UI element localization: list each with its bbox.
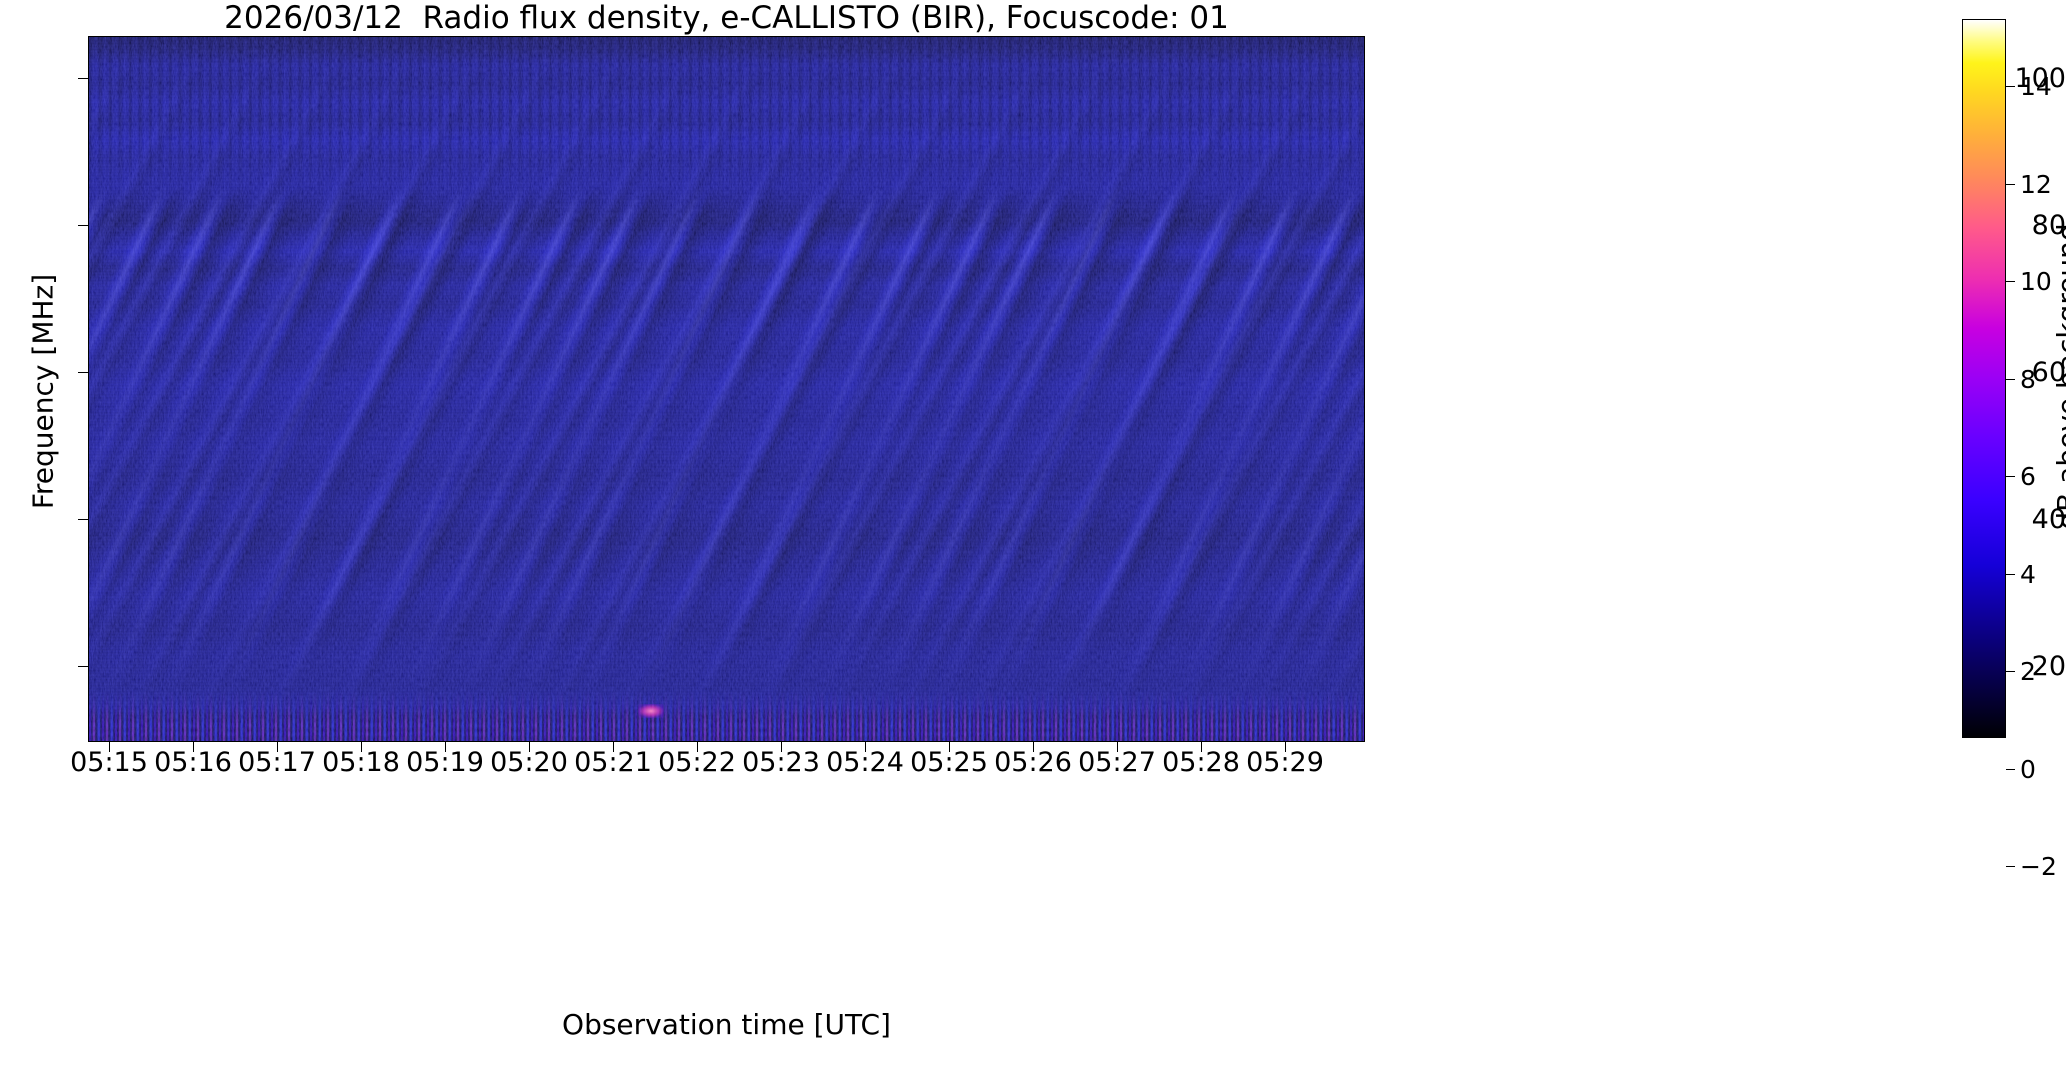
colorbar-tick-mark-10 (2006, 281, 2015, 282)
ytick-mark-40 (78, 519, 88, 520)
colorbar-tick-label-minus2: −2 (2020, 854, 2066, 879)
page-title: 2026/03/12 Radio flux density, e-CALLIST… (88, 1, 1365, 35)
ytick-mark-80 (78, 225, 88, 226)
xtick-label-14: 05:29 (1215, 748, 1355, 778)
colorbar-tick-label-0: 0 (2020, 757, 2066, 782)
colorbar-tick-mark-12 (2006, 184, 2015, 185)
colorbar-tick-mark-minus2 (2006, 866, 2015, 867)
ytick-mark-20 (78, 666, 88, 667)
ytick-mark-60 (78, 372, 88, 373)
colorbar-tick-mark-8 (2006, 379, 2015, 380)
spectrogram-plot-area[interactable] (88, 36, 1365, 742)
colorbar-tick-mark-14 (2006, 86, 2015, 87)
colorbar-label: dB above background (2051, 17, 2066, 736)
spectrogram-burst-blob (638, 704, 664, 718)
y-axis-label: Frequency [MHz] (27, 39, 60, 745)
ytick-mark-100 (78, 78, 88, 79)
x-axis-label: Observation time [UTC] (88, 1008, 1365, 1041)
colorbar-tick-mark-6 (2006, 476, 2015, 477)
colorbar-tick-mark-4 (2006, 574, 2015, 575)
colorbar-tick-mark-2 (2006, 671, 2015, 672)
colorbar-gradient[interactable] (1962, 19, 2006, 738)
spectrogram-dark-noise-texture (88, 36, 1365, 742)
colorbar-tick-mark-0 (2006, 769, 2015, 770)
figure-canvas: 2026/03/12 Radio flux density, e-CALLIST… (0, 0, 2066, 1067)
